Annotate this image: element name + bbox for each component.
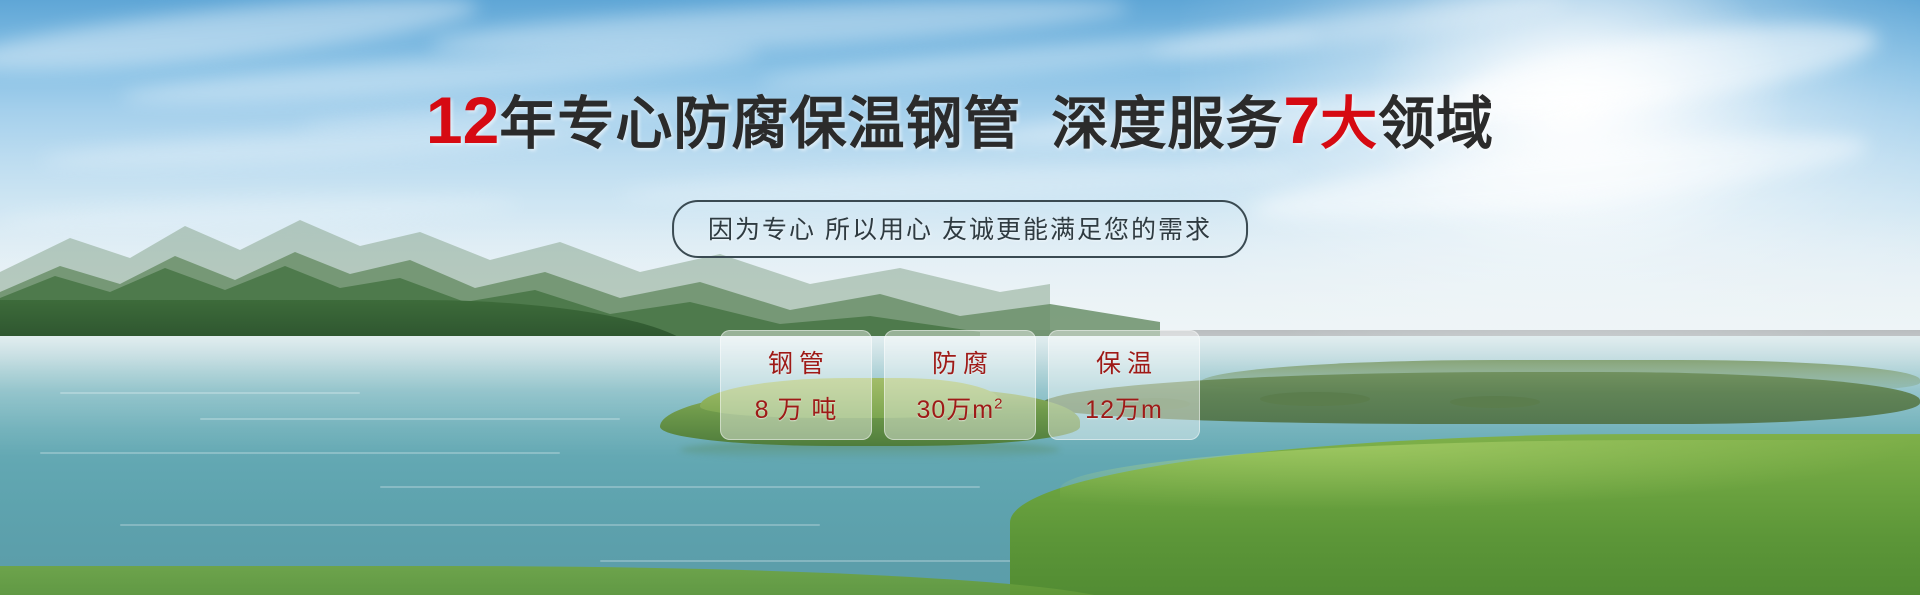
stat-card-value-text: 30万m <box>917 396 995 424</box>
headline-part-two: 深度服务 <box>1051 92 1283 156</box>
stat-card-value: 8 万 吨 <box>755 390 838 426</box>
subtitle-text: 因为专心 所以用心 友诚更能满足您的需求 <box>708 216 1212 244</box>
stat-card-group: 钢管 8 万 吨 防腐 30万m2 保温 12万m <box>720 330 1200 440</box>
stat-card-title: 防腐 <box>926 344 994 380</box>
stat-card-insulation[interactable]: 保温 12万m <box>1048 330 1200 440</box>
headline: 12年专心防腐保温钢管深度服务7大领域 <box>0 84 1920 157</box>
stat-card-value: 12万m <box>1085 390 1163 426</box>
stat-card-anticorrosion[interactable]: 防腐 30万m2 <box>884 330 1036 440</box>
stat-card-title: 钢管 <box>762 344 830 380</box>
stat-card-value-text: 12万m <box>1085 396 1163 424</box>
headline-part-one: 年专心防腐保温钢管 <box>499 92 1021 156</box>
stat-card-value: 30万m2 <box>917 390 1004 426</box>
banner-content: 12年专心防腐保温钢管深度服务7大领域 因为专心 所以用心 友诚更能满足您的需求… <box>0 0 1920 595</box>
hero-banner: 12年专心防腐保温钢管深度服务7大领域 因为专心 所以用心 友诚更能满足您的需求… <box>0 0 1920 595</box>
headline-years-number: 12 <box>426 83 499 157</box>
headline-fields-number: 7 <box>1283 83 1320 157</box>
subtitle-pill: 因为专心 所以用心 友诚更能满足您的需求 <box>672 200 1248 258</box>
stat-card-value-exponent: 2 <box>994 396 1003 413</box>
stat-card-value-text: 8 万 吨 <box>755 396 838 424</box>
headline-red-suffix: 大 <box>1320 92 1378 156</box>
stat-card-steel-pipe[interactable]: 钢管 8 万 吨 <box>720 330 872 440</box>
stat-card-title: 保温 <box>1090 344 1158 380</box>
headline-part-three: 领域 <box>1378 92 1494 156</box>
